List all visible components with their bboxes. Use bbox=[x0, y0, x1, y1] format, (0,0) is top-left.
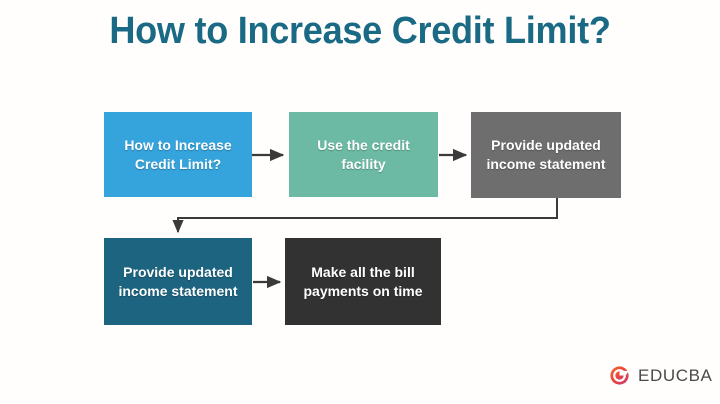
educba-swirl-icon bbox=[606, 362, 633, 389]
flow-node-make-all-the-bill-payments-on-time[interactable]: Make all the bill payments on time bbox=[285, 238, 441, 325]
page-title: How to Increase Credit Limit? bbox=[18, 8, 702, 54]
edge-node3-node4 bbox=[178, 198, 557, 232]
flow-node-use-the-credit-facility[interactable]: Use the credit facility bbox=[289, 112, 438, 197]
flow-node-provide-updated-income-statement-bottom[interactable]: Provide updated income statement bbox=[104, 238, 252, 325]
flow-node-label: Provide updated income statement bbox=[114, 263, 242, 301]
flow-node-label: Make all the bill payments on time bbox=[295, 263, 431, 301]
educba-wordmark: EDUCBA bbox=[638, 366, 712, 386]
flow-node-label: How to Increase Credit Limit? bbox=[114, 136, 242, 174]
slide-canvas: How to Increase Credit Limit? How to Inc… bbox=[0, 0, 720, 404]
flow-connectors bbox=[0, 0, 720, 404]
flow-node-how-to-increase-credit-limit[interactable]: How to Increase Credit Limit? bbox=[104, 112, 252, 197]
educba-logo[interactable]: EDUCBA bbox=[606, 362, 712, 389]
flow-node-label: Provide updated income statement bbox=[481, 136, 611, 174]
flow-node-provide-updated-income-statement-top[interactable]: Provide updated income statement bbox=[471, 112, 621, 198]
flow-node-label: Use the credit facility bbox=[299, 136, 428, 174]
